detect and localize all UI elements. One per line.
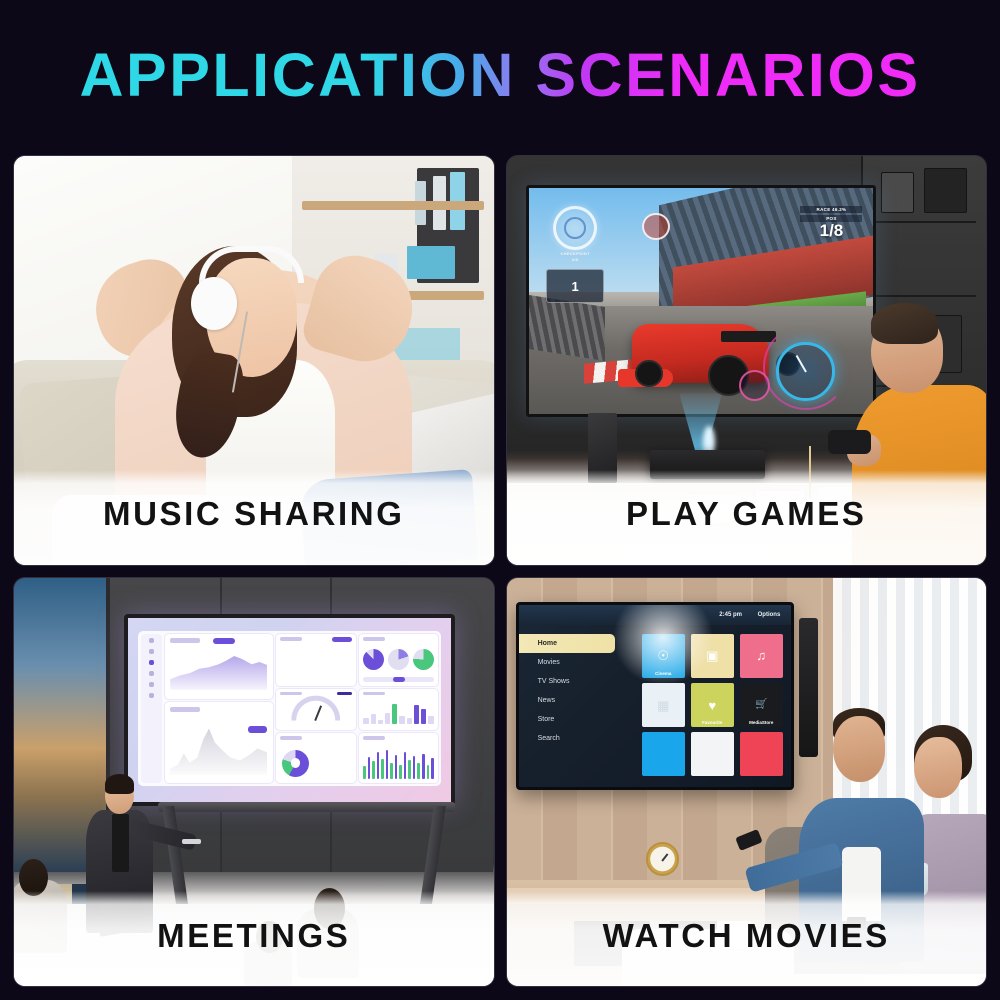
card-label-music-sharing: MUSIC SHARING <box>103 495 404 533</box>
tv-tile-mediastore[interactable]: 🛒 MediaStore <box>740 683 783 727</box>
table-clock <box>646 842 680 876</box>
sidebar-icon-reports[interactable] <box>149 671 154 676</box>
tv-clock: 2:45 pm <box>719 612 742 618</box>
hud-pos-value: 1/8 <box>800 222 862 241</box>
heart-icon: ♥ <box>708 699 716 712</box>
hud-top-marker-icon <box>642 213 670 241</box>
widget-progress-list[interactable] <box>276 634 356 686</box>
tv-menu-item-store[interactable]: Store <box>519 710 628 729</box>
hud-position-box: 1 <box>546 269 604 303</box>
hud-race-panel: RACE 46.2% POS 1/8 <box>800 206 862 241</box>
cart-icon: 🛒 <box>755 700 767 710</box>
hud-checkpoint: CHECKPOINT 3/8 <box>546 251 604 263</box>
tv-menu-item-search[interactable]: Search <box>519 729 628 748</box>
presenter-pointer <box>182 839 201 844</box>
tv-tile-live-tv[interactable] <box>642 732 685 776</box>
tv-tile-label-favourite: Favourite <box>691 720 734 725</box>
scenario-card-grid: MUSIC SHARING <box>14 156 986 986</box>
music-note-icon: ♫ <box>756 649 766 662</box>
widget-bar-chart-large[interactable] <box>359 733 439 783</box>
grid-icon: ▦ <box>657 699 669 712</box>
sidebar-icon-settings[interactable] <box>149 682 154 687</box>
smart-tv: 2:45 pm Options Home Movies TV Shows New… <box>516 602 794 790</box>
analytics-dashboard <box>138 631 441 786</box>
card-label-band-meetings: MEETINGS <box>14 891 494 986</box>
widget-ring-gauges[interactable] <box>359 634 439 686</box>
tv-options-button[interactable]: Options <box>758 612 781 618</box>
hud-speedometer-icon <box>776 342 834 400</box>
scenario-card-music-sharing[interactable]: MUSIC SHARING <box>14 156 494 565</box>
card-label-play-games: PLAY GAMES <box>626 495 867 533</box>
hud-checkpoint-value: 3/8 <box>572 257 578 262</box>
sidebar-icon-analytics[interactable] <box>149 649 154 654</box>
tv-tile-sports[interactable] <box>740 732 783 776</box>
projected-game-screen: CHECKPOINT 3/8 1 RACE 46.2% POS 1/8 <box>526 185 876 418</box>
page-title: APPLICATION SCENARIOS <box>79 40 920 110</box>
headphones-earcup <box>191 277 237 330</box>
tv-menu-item-home[interactable]: Home <box>519 634 615 653</box>
application-scenarios-page: APPLICATION SCENARIOS <box>0 0 1000 1000</box>
sidebar-icon-dashboard[interactable] <box>149 660 154 665</box>
ring-gauge-1 <box>363 649 385 671</box>
woman-head <box>914 737 962 798</box>
widget-gauge-chart[interactable] <box>276 689 356 730</box>
hud-race-label: RACE 46.2% <box>800 206 862 213</box>
widget-trend-area-chart[interactable] <box>165 634 273 699</box>
sidebar-icon-power[interactable] <box>149 693 154 698</box>
widget-bar-chart-small[interactable] <box>359 689 439 730</box>
widget-stock-line-chart[interactable] <box>165 702 273 783</box>
man-head <box>833 716 886 781</box>
card-label-band-play-games: PLAY GAMES <box>507 470 987 565</box>
card-label-meetings: MEETINGS <box>157 917 350 955</box>
hud-position-value: 1 <box>571 279 578 294</box>
card-label-band-music-sharing: MUSIC SHARING <box>14 470 494 565</box>
tv-menu-item-news[interactable]: News <box>519 691 628 710</box>
tv-tile-settings[interactable] <box>691 732 734 776</box>
soundbar-speaker <box>799 618 818 757</box>
donut-chart <box>282 750 309 777</box>
ring-gauge-2 <box>388 649 410 671</box>
scenario-card-meetings[interactable]: MEETINGS <box>14 578 494 987</box>
scenario-card-watch-movies[interactable]: 2:45 pm Options Home Movies TV Shows New… <box>507 578 987 987</box>
hud-checkpoint-label: CHECKPOINT <box>560 251 589 256</box>
game-controller <box>828 430 871 455</box>
hud-mini-dial-icon <box>739 370 770 401</box>
widget-donut-chart[interactable] <box>276 733 356 783</box>
sidebar-icon-profile[interactable] <box>149 638 154 643</box>
dashboard-sidebar[interactable] <box>141 634 162 783</box>
tv-tile-label-mediastore: MediaStore <box>740 720 783 725</box>
card-label-watch-movies: WATCH MOVIES <box>603 917 890 955</box>
page-title-container: APPLICATION SCENARIOS <box>0 0 1000 150</box>
tv-tile-music[interactable]: ♫ <box>740 634 783 678</box>
ring-gauge-3 <box>413 649 435 671</box>
tv-home-screen: 2:45 pm Options Home Movies TV Shows New… <box>519 605 791 787</box>
projection-screen <box>124 614 455 806</box>
card-label-band-watch-movies: WATCH MOVIES <box>507 891 987 986</box>
scenario-card-play-games[interactable]: CHECKPOINT 3/8 1 RACE 46.2% POS 1/8 <box>507 156 987 565</box>
